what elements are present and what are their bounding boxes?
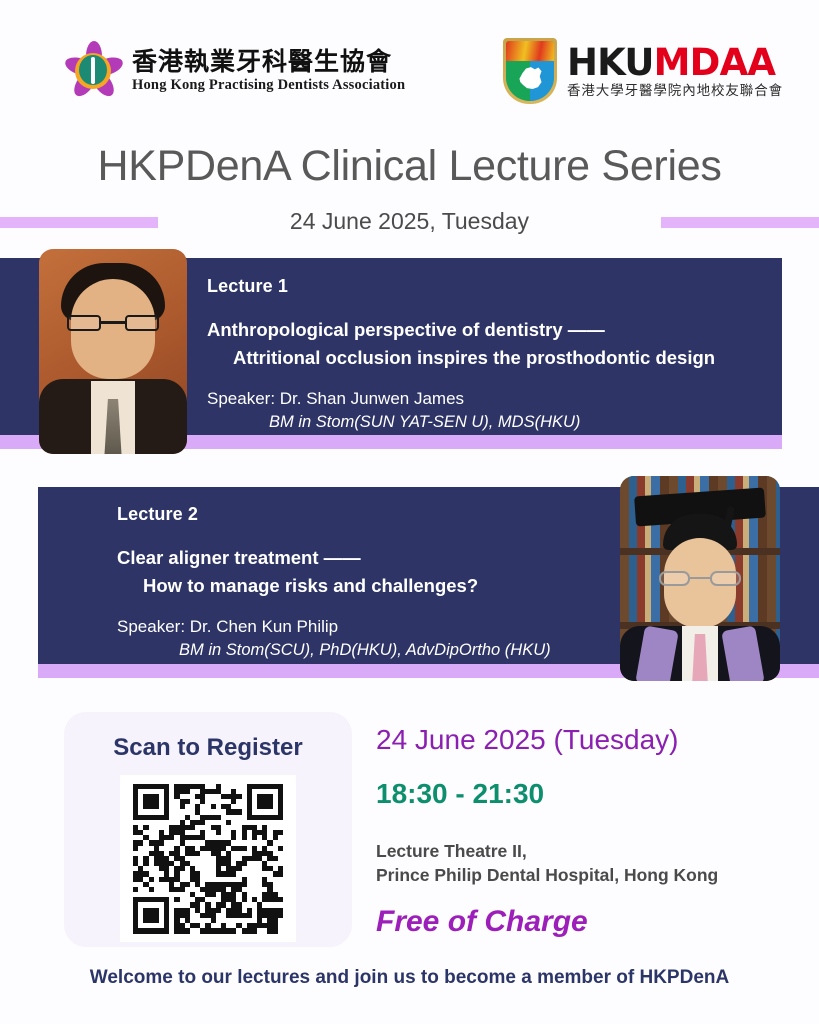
event-venue: Lecture Theatre II, Prince Philip Dental…: [376, 840, 806, 887]
registration-qr-code[interactable]: [120, 775, 296, 942]
hkumdaa-acronym: HKUMDAA: [567, 44, 783, 81]
lecture-2-title-line1: Clear aligner treatment ——: [117, 547, 617, 569]
lecture-1-text: Lecture 1 Anthropological perspective of…: [207, 276, 767, 432]
page-subtitle: 24 June 2025, Tuesday: [0, 208, 819, 235]
scan-to-register-heading: Scan to Register: [64, 734, 352, 762]
speaker-2-photo: [620, 476, 780, 681]
lecture-2-title-line2: How to manage risks and challenges?: [117, 575, 617, 597]
hku-crest-shield-icon: [503, 38, 557, 104]
registration-card: Scan to Register: [64, 712, 352, 947]
qr-code-matrix: [133, 784, 283, 934]
lecture-2-credentials: BM in Stom(SCU), PhD(HKU), AdvDipOrtho (…: [117, 641, 617, 660]
page-title: HKPDenA Clinical Lecture Series: [0, 142, 819, 191]
event-fee: Free of Charge: [376, 905, 806, 939]
hkpdena-logo-text: 香港執業牙科醫生協會 Hong Kong Practising Dentists…: [132, 48, 405, 94]
lecture-1-title-line1: Anthropological perspective of dentistry…: [207, 319, 767, 341]
hkumdaa-logo: HKUMDAA 香港大學牙醫學院內地校友聯合會: [503, 38, 783, 104]
hkumdaa-logo-text: HKUMDAA 香港大學牙醫學院內地校友聯合會: [567, 44, 783, 99]
event-date: 24 June 2025 (Tuesday): [376, 724, 806, 756]
lecture-2-text: Lecture 2 Clear aligner treatment —— How…: [117, 504, 617, 660]
event-details: 24 June 2025 (Tuesday) 18:30 - 21:30 Lec…: [376, 724, 806, 939]
hkpdena-name-en: Hong Kong Practising Dentists Associatio…: [132, 77, 405, 94]
footer-note: Welcome to our lectures and join us to b…: [0, 967, 819, 989]
event-venue-line1: Lecture Theatre II,: [376, 840, 806, 864]
hkumdaa-name-cn: 香港大學牙醫學院內地校友聯合會: [567, 85, 783, 99]
hkpdena-logo: 香港執業牙科醫生協會 Hong Kong Practising Dentists…: [62, 40, 405, 102]
hkumdaa-acronym-mdaa: MDAA: [654, 41, 776, 84]
hkpdena-name-cn: 香港執業牙科醫生協會: [132, 48, 405, 76]
event-time: 18:30 - 21:30: [376, 778, 806, 810]
lecture-1-label: Lecture 1: [207, 276, 767, 297]
poster-root: 香港執業牙科醫生協會 Hong Kong Practising Dentists…: [0, 0, 819, 1024]
bauhinia-caduceus-logo-icon: [62, 40, 124, 102]
glasses-icon: [67, 315, 159, 331]
lecture-2-speaker: Speaker: Dr. Chen Kun Philip: [117, 617, 617, 637]
logo-row: 香港執業牙科醫生協會 Hong Kong Practising Dentists…: [0, 38, 819, 118]
lecture-2-label: Lecture 2: [117, 504, 617, 525]
speaker-1-photo: [39, 249, 187, 454]
glasses-icon: [659, 571, 741, 586]
lecture-1-speaker: Speaker: Dr. Shan Junwen James: [207, 389, 767, 409]
hkumdaa-acronym-hku: HKU: [567, 41, 654, 84]
lecture-1-credentials: BM in Stom(SUN YAT-SEN U), MDS(HKU): [207, 413, 767, 432]
lecture-1-title-line2: Attritional occlusion inspires the prost…: [207, 347, 767, 369]
event-venue-line2: Prince Philip Dental Hospital, Hong Kong: [376, 864, 806, 888]
